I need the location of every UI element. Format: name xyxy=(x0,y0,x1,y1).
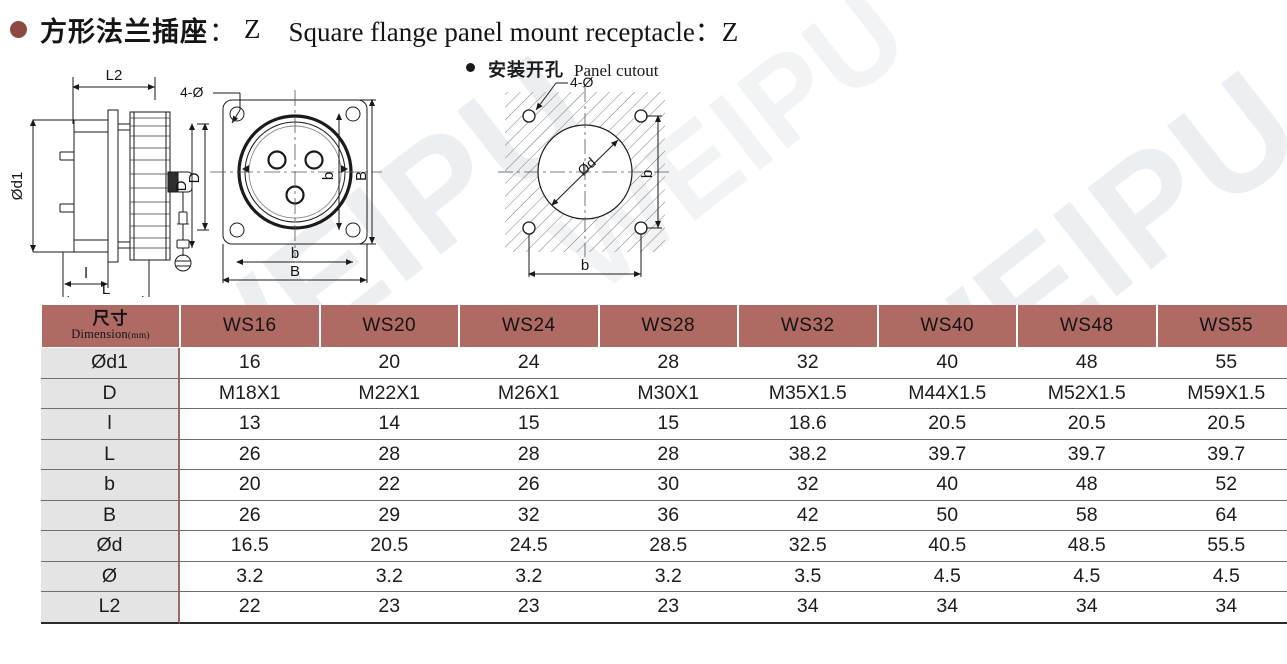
title-english: Square flange panel mount receptacle：Z xyxy=(289,10,739,49)
table-cell: 15 xyxy=(599,409,739,440)
svg-text:4-Ø: 4-Ø xyxy=(180,84,203,100)
svg-text:D: D xyxy=(186,172,203,183)
panel-cutout-label-chinese: 安装开孔 xyxy=(488,56,564,82)
table-cell: 15 xyxy=(459,409,599,440)
svg-text:b: b xyxy=(639,170,656,178)
column-header-ws48: WS48 xyxy=(1017,305,1157,348)
specification-table: 尺寸 Dimension(mm) WS16 WS20 WS24 WS28 WS3… xyxy=(41,305,1287,624)
table-cell: 39.7 xyxy=(1157,440,1287,471)
svg-text:B: B xyxy=(353,171,370,181)
table-cell: 52 xyxy=(1157,470,1287,501)
table-cell: 58 xyxy=(1017,501,1157,532)
row-label: L2 xyxy=(41,592,180,624)
table-cell: M35X1.5 xyxy=(738,379,878,410)
table-cell: 16.5 xyxy=(180,531,320,562)
panel-cutout-drawing: 4-Ø Ød b b xyxy=(498,74,672,277)
table-cell: 28 xyxy=(459,440,599,471)
table-cell: M18X1 xyxy=(180,379,320,410)
table-cell: 16 xyxy=(180,348,320,379)
table-row: L2 22 23 23 23 34 34 34 34 xyxy=(41,592,1287,624)
table-cell: 26 xyxy=(180,501,320,532)
table-cell: 29 xyxy=(320,501,460,532)
table-body: Ød1 16 20 24 28 32 40 48 55 D M18X1 M22X… xyxy=(41,348,1287,624)
table-cell: 55 xyxy=(1157,348,1287,379)
table-cell: 32 xyxy=(459,501,599,532)
table-cell: M59X1.5 xyxy=(1157,379,1287,410)
dimension-label-english: Dimension(mm) xyxy=(42,328,179,342)
svg-text:b: b xyxy=(581,257,589,274)
table-row: Ød 16.5 20.5 24.5 28.5 32.5 40.5 48.5 55… xyxy=(41,531,1287,562)
table-cell: 30 xyxy=(599,470,739,501)
table-cell: 22 xyxy=(320,470,460,501)
table-cell: 13 xyxy=(180,409,320,440)
table-cell: M22X1 xyxy=(320,379,460,410)
table-cell: 40 xyxy=(878,348,1018,379)
table-cell: 26 xyxy=(459,470,599,501)
table-cell: 42 xyxy=(738,501,878,532)
table-cell: 32 xyxy=(738,470,878,501)
column-header-ws32: WS32 xyxy=(738,305,878,348)
table-cell: 14 xyxy=(320,409,460,440)
row-label: l xyxy=(41,409,180,440)
row-label: B xyxy=(41,501,180,532)
column-header-ws28: WS28 xyxy=(599,305,739,348)
row-label: L xyxy=(41,440,180,471)
dimension-label-chinese: 尺寸 xyxy=(42,311,179,329)
svg-text:Ød1: Ød1 xyxy=(9,172,26,200)
specification-table-container: 尺寸 Dimension(mm) WS16 WS20 WS24 WS28 WS3… xyxy=(41,305,1287,624)
table-cell: M30X1 xyxy=(599,379,739,410)
side-view-drawing: L2 Ød1 xyxy=(9,67,192,297)
svg-text:B: B xyxy=(290,263,300,280)
table-cell: 34 xyxy=(1157,592,1287,624)
table-cell: 39.7 xyxy=(878,440,1018,471)
table-cell: 26 xyxy=(180,440,320,471)
page-title: 方形法兰插座 ： Z Square flange panel mount rec… xyxy=(0,8,1287,50)
table-cell: 39.7 xyxy=(1017,440,1157,471)
table-cell: 4.5 xyxy=(1157,562,1287,593)
table-cell: 40 xyxy=(878,470,1018,501)
table-cell: 3.2 xyxy=(180,562,320,593)
table-cell: 48 xyxy=(1017,470,1157,501)
column-header-ws24: WS24 xyxy=(459,305,599,348)
table-header: 尺寸 Dimension(mm) WS16 WS20 WS24 WS28 WS3… xyxy=(41,305,1287,348)
table-cell: 28 xyxy=(320,440,460,471)
panel-cutout-label-english: Panel cutout xyxy=(574,61,659,81)
panel-cutout-heading: 安装开孔 Panel cutout xyxy=(466,56,659,82)
svg-text:L2: L2 xyxy=(106,67,123,84)
column-header-ws40: WS40 xyxy=(878,305,1018,348)
table-row: Ø 3.2 3.2 3.2 3.2 3.5 4.5 4.5 4.5 xyxy=(41,562,1287,593)
column-header-ws20: WS20 xyxy=(320,305,460,348)
table-cell: M52X1.5 xyxy=(1017,379,1157,410)
table-cell: 23 xyxy=(320,592,460,624)
table-cell: 18.6 xyxy=(738,409,878,440)
technical-drawings: L2 Ød1 xyxy=(0,52,1287,297)
table-row: l 13 14 15 15 18.6 20.5 20.5 20.5 xyxy=(41,409,1287,440)
table-cell: 24.5 xyxy=(459,531,599,562)
table-row: b 20 22 26 30 32 40 48 52 xyxy=(41,470,1287,501)
table-cell: 38.2 xyxy=(738,440,878,471)
table-cell: 32 xyxy=(738,348,878,379)
table-cell: 20.5 xyxy=(878,409,1018,440)
table-cell: 22 xyxy=(180,592,320,624)
table-cell: M44X1.5 xyxy=(878,379,1018,410)
row-label: D xyxy=(41,379,180,410)
svg-text:b: b xyxy=(320,172,337,180)
table-cell: M26X1 xyxy=(459,379,599,410)
title-chinese: 方形法兰插座 xyxy=(40,10,208,49)
row-label: Ø xyxy=(41,562,180,593)
table-cell: 34 xyxy=(1017,592,1157,624)
table-cell: 55.5 xyxy=(1157,531,1287,562)
table-cell: 20 xyxy=(180,470,320,501)
title-code: Z xyxy=(244,14,261,45)
table-cell: 23 xyxy=(459,592,599,624)
dimension-header-cell: 尺寸 Dimension(mm) xyxy=(41,305,180,348)
table-cell: 34 xyxy=(878,592,1018,624)
table-cell: 48.5 xyxy=(1017,531,1157,562)
table-cell: 23 xyxy=(599,592,739,624)
table-cell: 48 xyxy=(1017,348,1157,379)
table-cell: 40.5 xyxy=(878,531,1018,562)
title-colon: ： xyxy=(209,10,236,49)
table-cell: 28 xyxy=(599,440,739,471)
table-cell: 32.5 xyxy=(738,531,878,562)
table-cell: 3.5 xyxy=(738,562,878,593)
front-view-drawing: 4-Ø D b xyxy=(180,84,382,283)
table-row: Ød1 16 20 24 28 32 40 48 55 xyxy=(41,348,1287,379)
column-header-ws16: WS16 xyxy=(180,305,320,348)
table-cell: 20.5 xyxy=(1157,409,1287,440)
svg-text:L: L xyxy=(102,281,110,297)
table-header-row: 尺寸 Dimension(mm) WS16 WS20 WS24 WS28 WS3… xyxy=(41,305,1287,348)
row-label: b xyxy=(41,470,180,501)
table-row: L 26 28 28 28 38.2 39.7 39.7 39.7 xyxy=(41,440,1287,471)
table-cell: 20 xyxy=(320,348,460,379)
table-row: B 26 29 32 36 42 50 58 64 xyxy=(41,501,1287,532)
table-cell: 3.2 xyxy=(459,562,599,593)
table-cell: 50 xyxy=(878,501,1018,532)
table-cell: 20.5 xyxy=(1017,409,1157,440)
table-cell: 28.5 xyxy=(599,531,739,562)
row-label: Ød xyxy=(41,531,180,562)
column-header-ws55: WS55 xyxy=(1157,305,1287,348)
table-cell: 36 xyxy=(599,501,739,532)
table-cell: 20.5 xyxy=(320,531,460,562)
svg-text:b: b xyxy=(291,245,299,262)
svg-text:l: l xyxy=(84,265,87,282)
table-cell: 3.2 xyxy=(320,562,460,593)
table-cell: 3.2 xyxy=(599,562,739,593)
table-row: D M18X1 M22X1 M26X1 M30X1 M35X1.5 M44X1.… xyxy=(41,379,1287,410)
table-cell: 34 xyxy=(738,592,878,624)
bullet-icon xyxy=(10,21,27,38)
row-label: Ød1 xyxy=(41,348,180,379)
table-cell: 24 xyxy=(459,348,599,379)
table-cell: 4.5 xyxy=(878,562,1018,593)
table-cell: 28 xyxy=(599,348,739,379)
table-cell: 64 xyxy=(1157,501,1287,532)
bullet-icon xyxy=(466,63,475,72)
table-cell: 4.5 xyxy=(1017,562,1157,593)
